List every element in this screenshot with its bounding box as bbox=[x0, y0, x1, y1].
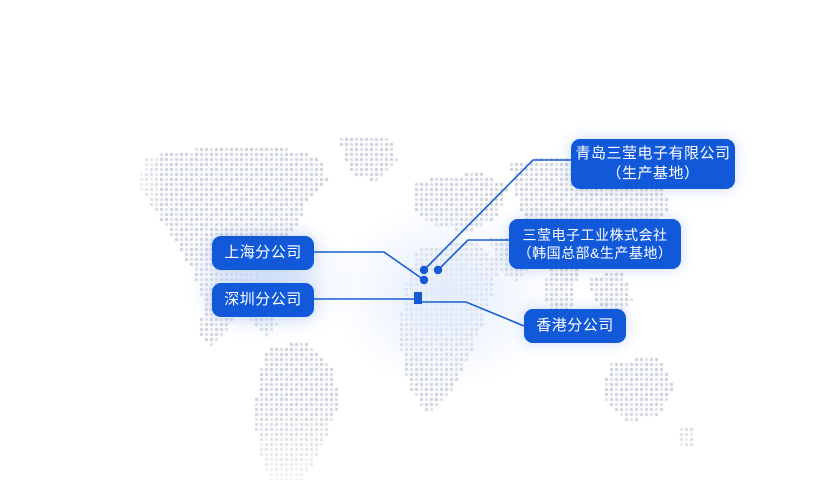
label-korea-headquarters[interactable]: 三莹电子工业株式会社（韩国总部&生产基地） bbox=[509, 219, 681, 269]
map-markers bbox=[414, 266, 442, 304]
label-hongkong-branch[interactable]: 香港分公司 bbox=[524, 309, 626, 343]
connector-shanghai bbox=[314, 252, 424, 280]
map-marker-korea[interactable] bbox=[434, 266, 442, 274]
label-korea-headquarters-line-1: 三莹电子工业株式会社 bbox=[523, 226, 668, 244]
connector-lines bbox=[0, 0, 824, 480]
label-qingdao[interactable]: 青岛三莹电子有限公司（生产基地） bbox=[571, 139, 735, 189]
world-map-infographic: 青岛三莹电子有限公司（生产基地）三莹电子工业株式会社（韩国总部&生产基地）上海分… bbox=[0, 0, 824, 480]
label-hongkong-branch-line-1: 香港分公司 bbox=[536, 316, 614, 336]
map-marker-shanghai[interactable] bbox=[420, 276, 428, 284]
label-korea-headquarters-line-2: （韩国总部&生产基地） bbox=[518, 244, 673, 262]
label-shanghai-branch[interactable]: 上海分公司 bbox=[212, 236, 314, 270]
connector-hongkong bbox=[418, 302, 524, 326]
label-qingdao-line-1: 青岛三莹电子有限公司 bbox=[575, 144, 730, 164]
label-shenzhen-branch[interactable]: 深圳分公司 bbox=[212, 283, 314, 317]
label-shanghai-branch-line-1: 上海分公司 bbox=[224, 243, 302, 263]
label-shenzhen-branch-line-1: 深圳分公司 bbox=[224, 290, 302, 310]
map-marker-hongkong-junction[interactable] bbox=[414, 292, 422, 304]
map-marker-qingdao[interactable] bbox=[420, 266, 428, 274]
label-qingdao-line-2: （生产基地） bbox=[606, 164, 699, 184]
